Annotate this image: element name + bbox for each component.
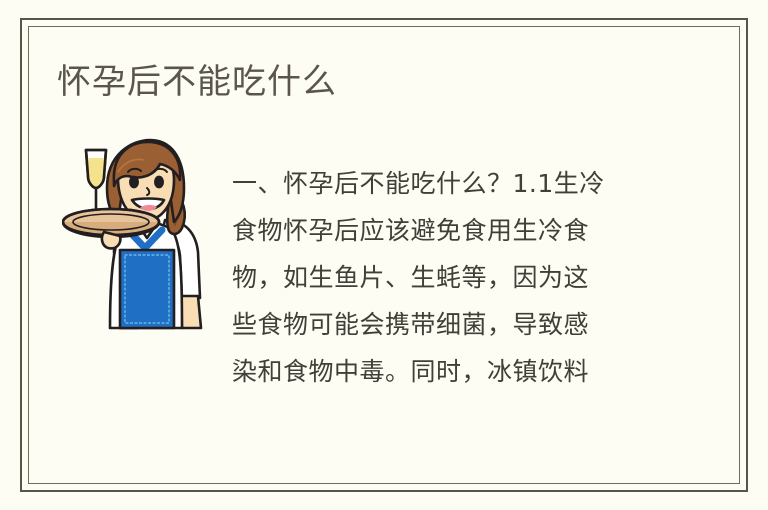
- apron-body: [120, 250, 174, 328]
- body-line: 一、怀孕后不能吃什么？1.1生冷: [232, 160, 652, 207]
- left-eye: [129, 176, 139, 189]
- article-body: 一、怀孕后不能吃什么？1.1生冷 食物怀孕后应该避免食用生冷食 物，如生鱼片、生…: [232, 160, 652, 395]
- article-card: 怀孕后不能吃什么: [0, 0, 768, 510]
- right-forearm: [181, 296, 201, 328]
- body-line: 物，如生鱼片、生蚝等，因为这: [232, 254, 652, 301]
- body-line: 染和食物中毒。同时，冰镇饮料: [232, 348, 652, 395]
- body-line: 食物怀孕后应该避免食用生冷食: [232, 207, 652, 254]
- right-eye: [154, 176, 164, 189]
- supporting-hand: [102, 232, 120, 248]
- waitress-illustration: [62, 132, 212, 330]
- body-line: 些食物可能会携带细菌，导致感: [232, 301, 652, 348]
- page-title: 怀孕后不能吃什么: [57, 60, 337, 104]
